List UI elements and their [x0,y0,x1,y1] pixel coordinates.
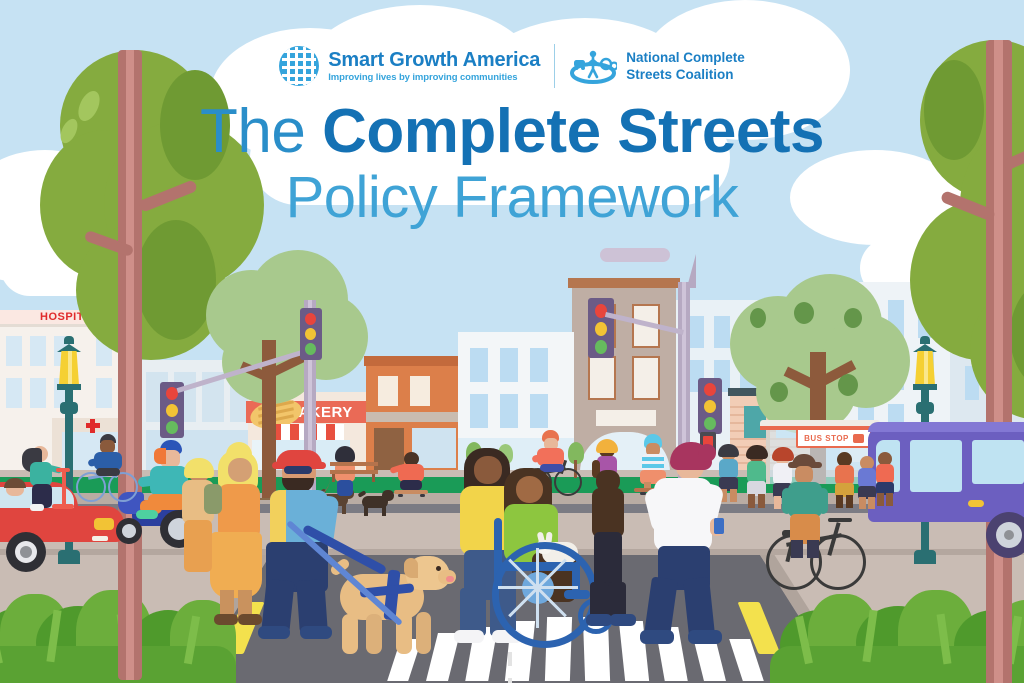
cover-title-block: The Complete Streets Policy Framework [0,100,1024,230]
backpack [204,484,222,514]
bus-stop-sign-board: BUS STOP [796,428,872,448]
bus-stop-sign: BUS STOP [804,434,849,443]
traffic-light-right [698,378,722,434]
globe-grid-icon [279,46,319,86]
title-the: The [200,97,322,166]
title-line-2: Policy Framework [0,166,1024,230]
pedestrian-right-edge [870,452,900,508]
pedestrian-dark-figure [586,470,630,630]
cover-illustration: HOSPITAL BAKERY [0,0,1024,683]
smart-growth-america-logo: Smart Growth America Improving lives by … [279,46,540,86]
traffic-light-upper-left [300,308,322,360]
cover-header: Smart Growth America Improving lives by … [0,0,1024,270]
ncsc-wordmark-line2: Streets Coalition [626,66,745,83]
title-complete-streets: Complete Streets [322,97,824,166]
people-roundabout-icon [569,47,617,85]
person-with-phone [640,442,726,646]
dog [358,490,394,516]
ncsc-wordmark-line1: National Complete [626,49,745,66]
national-complete-streets-coalition-logo: National Complete Streets Coalition [569,47,745,85]
skateboarder-left [390,452,434,496]
person-kick-scooter [20,446,70,516]
logo-divider [554,44,555,88]
pedestrian-with-bicycle [778,450,834,560]
white-cane [290,520,410,650]
cyclist-left [88,434,132,476]
bus-icon [853,434,864,443]
smartphone [714,518,724,534]
sga-tagline: Improving lives by improving communities [328,73,540,83]
title-line-1: The Complete Streets [0,100,1024,164]
logo-row: Smart Growth America Improving lives by … [0,44,1024,88]
pedestrian-backpack [176,460,220,620]
sga-wordmark: Smart Growth America [328,50,540,70]
cyclist-center [532,430,576,472]
